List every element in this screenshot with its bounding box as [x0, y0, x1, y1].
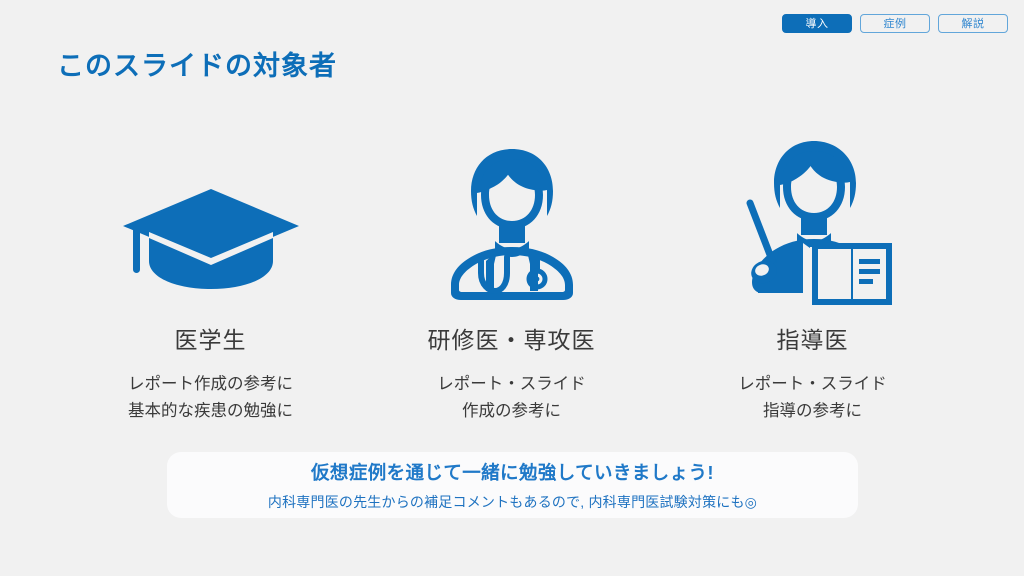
tab-strip: 導入 症例 解説 [782, 14, 1008, 33]
audience-column-resident: 研修医・専攻医 レポート・スライド 作成の参考に [361, 140, 662, 424]
audience-row: 医学生 レポート作成の参考に 基本的な疾患の勉強に [60, 140, 964, 424]
audience-description-line-1: レポート・スライド [738, 371, 887, 398]
tab-case[interactable]: 症例 [860, 14, 930, 33]
audience-title: 指導医 [777, 321, 849, 355]
audience-description: レポート・スライド 指導の参考に [738, 371, 887, 424]
audience-description-line-2: 作成の参考に [437, 398, 586, 425]
callout-headline: 仮想症例を通じて一緒に勉強していきましょう! [311, 459, 714, 485]
graduation-cap-icon [121, 140, 301, 305]
audience-title: 研修医・専攻医 [428, 321, 596, 355]
audience-description: レポート・スライド 作成の参考に [437, 371, 586, 424]
audience-column-supervisor: 指導医 レポート・スライド 指導の参考に [662, 140, 963, 424]
page-title: このスライドの対象者 [57, 44, 337, 83]
audience-description: レポート作成の参考に 基本的な疾患の勉強に [128, 371, 293, 424]
audience-title: 医学生 [175, 321, 247, 355]
tab-explanation[interactable]: 解説 [938, 14, 1008, 33]
doctor-stethoscope-icon [437, 140, 587, 305]
callout-subtext: 内科専門医の先生からの補足コメントもあるので, 内科専門医試験対策にも◎ [268, 492, 757, 512]
callout-card: 仮想症例を通じて一緒に勉強していきましょう! 内科専門医の先生からの補足コメント… [167, 452, 858, 518]
audience-description-line-2: 基本的な疾患の勉強に [128, 398, 293, 425]
audience-description-line-2: 指導の参考に [738, 398, 887, 425]
tab-intro[interactable]: 導入 [782, 14, 852, 33]
teacher-pointer-book-icon [728, 140, 898, 305]
audience-column-medical-student: 医学生 レポート作成の参考に 基本的な疾患の勉強に [60, 140, 361, 424]
audience-description-line-1: レポート・スライド [437, 371, 586, 398]
audience-description-line-1: レポート作成の参考に [128, 371, 293, 398]
